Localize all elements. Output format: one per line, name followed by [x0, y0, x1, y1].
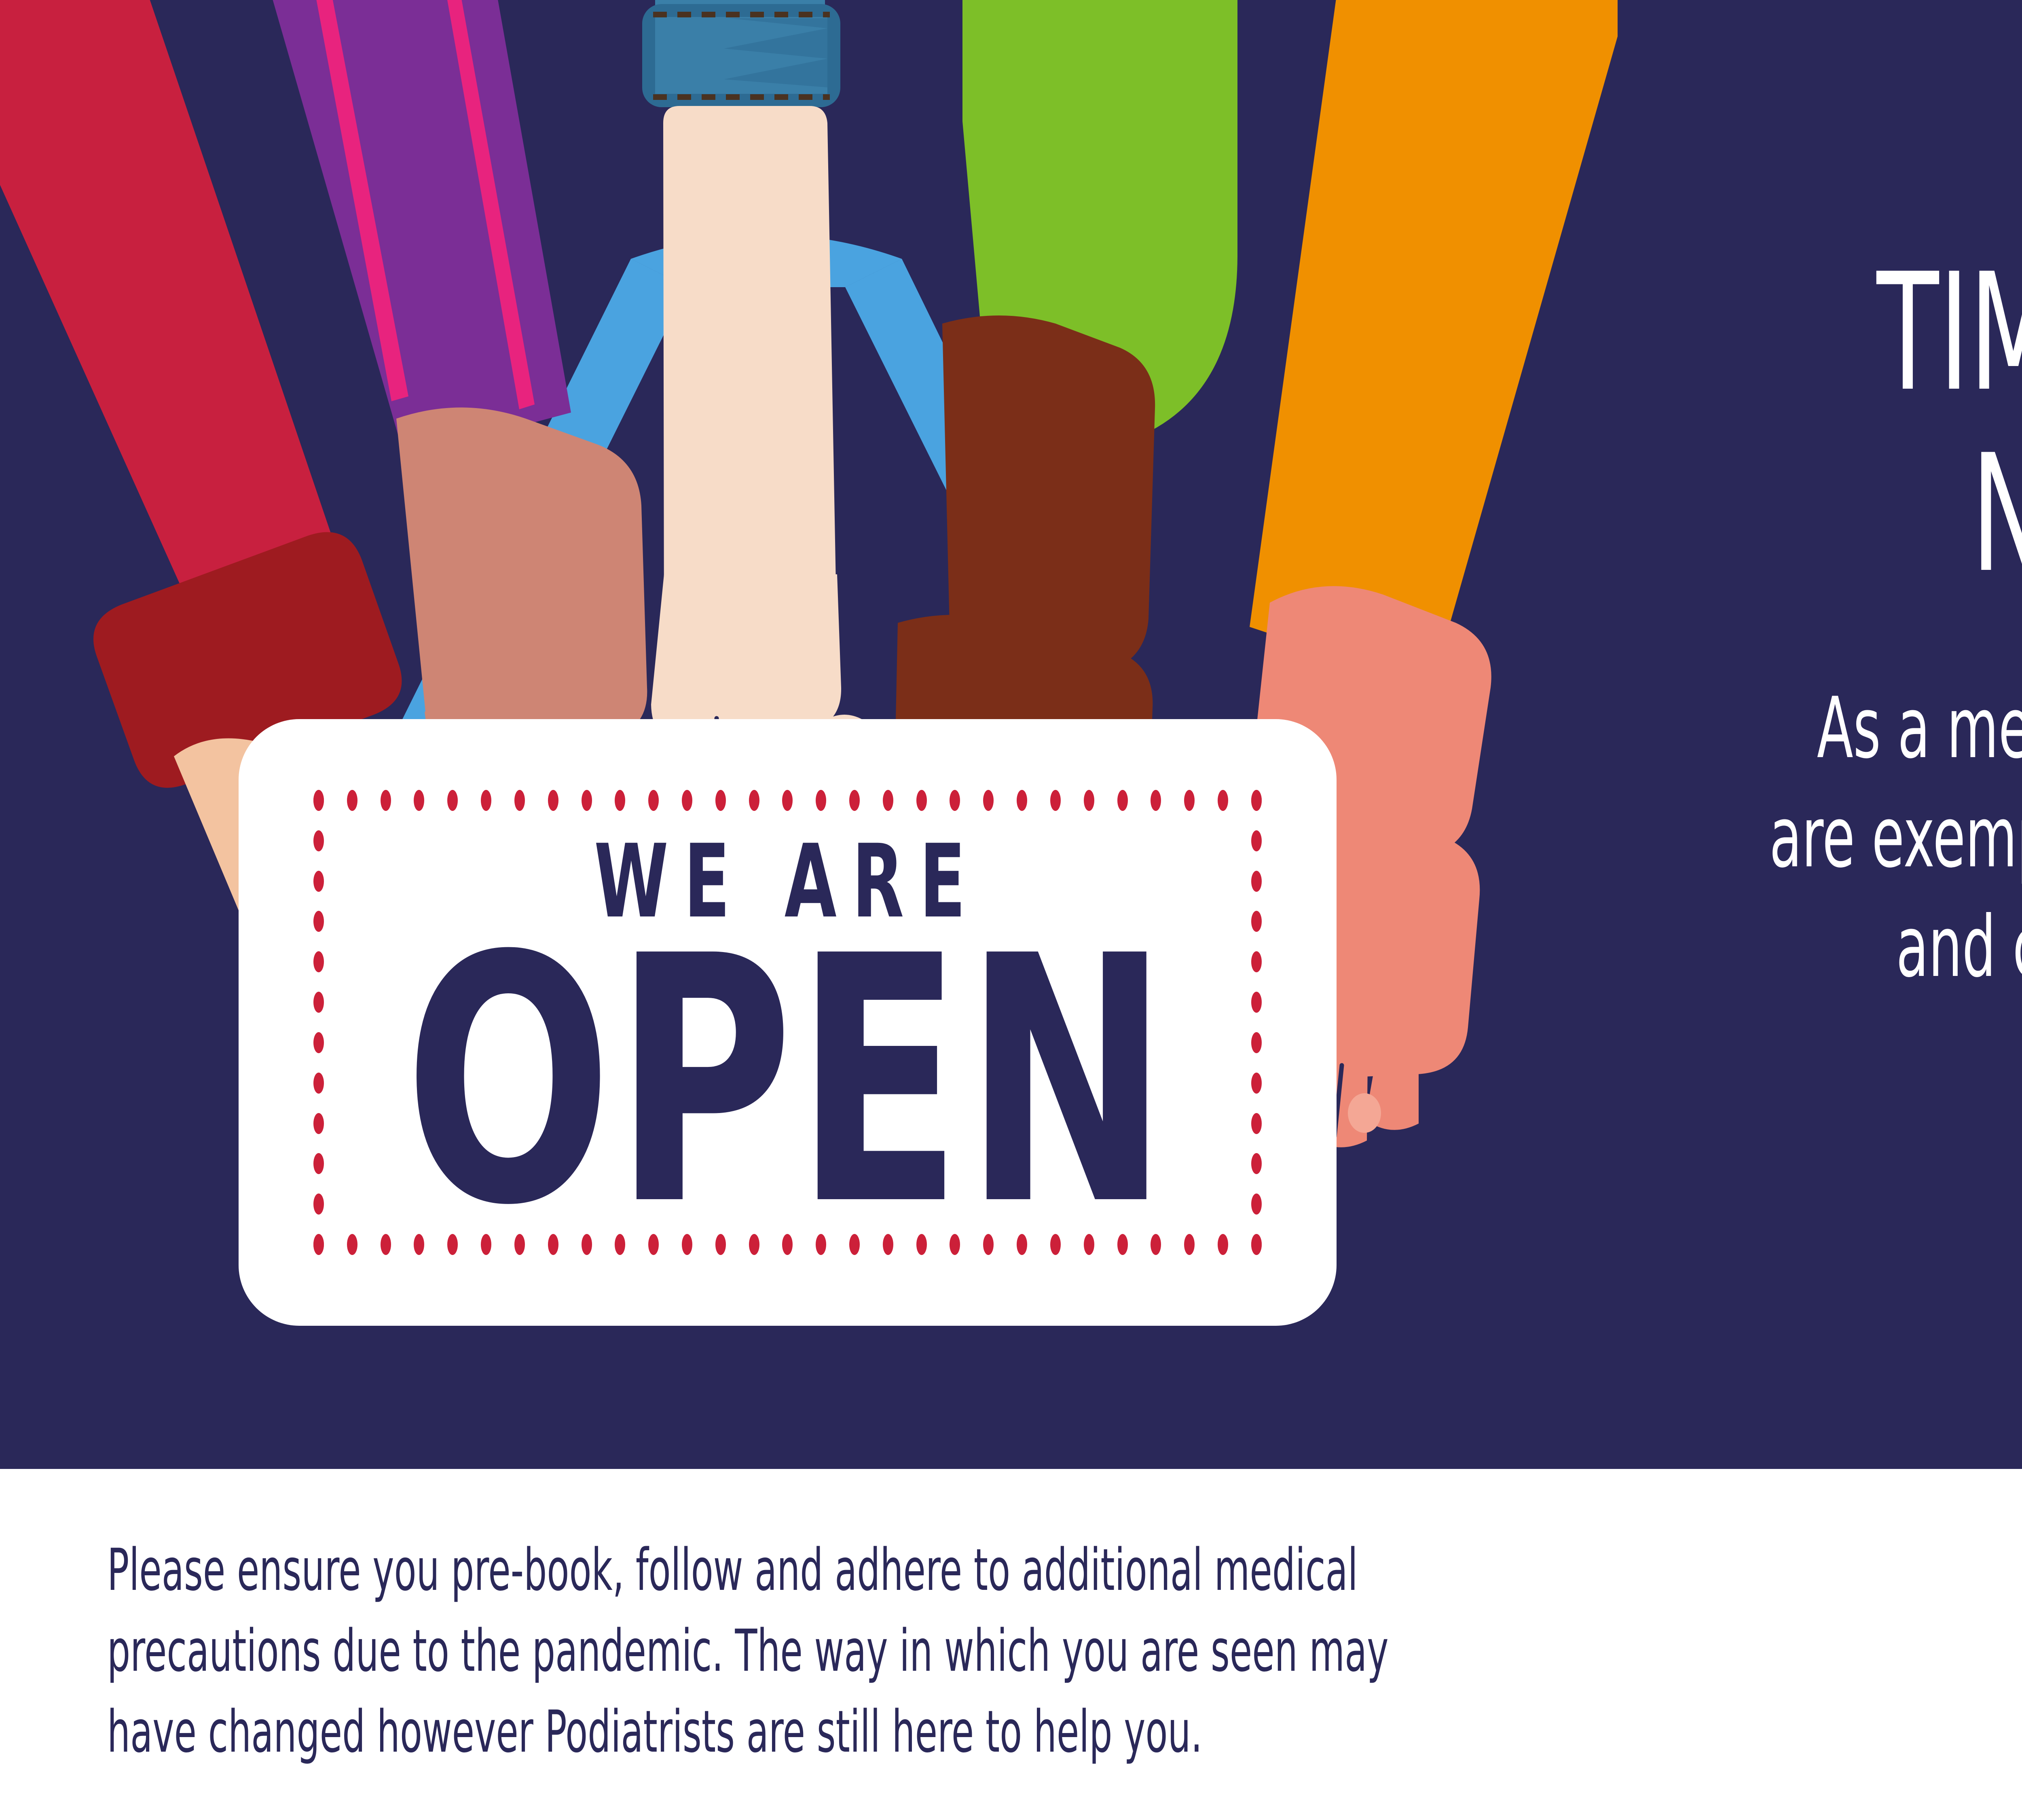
hero-copy-block: TIME TO BOOK IN NOT WALK BY As a medical… — [1472, 243, 2022, 1002]
footer-panel: Please ensure you pre-book, follow and a… — [0, 1469, 2022, 1820]
hero-subcopy: As a medical practice, Podiatry Clinics … — [1727, 674, 2022, 1002]
sign-text-block: WE ARE OPEN — [313, 790, 1262, 1255]
sign-line-open: OPEN — [404, 943, 1171, 1221]
sign-dotted-frame: WE ARE OPEN — [313, 790, 1262, 1255]
footer-disclaimer: Please ensure you pre-book, follow and a… — [107, 1530, 1579, 1773]
we-are-open-sign: WE ARE OPEN — [239, 719, 1337, 1326]
foot-three — [642, 0, 874, 814]
hero-panel: WE ARE OPEN TIME TO BOOK IN NOT WALK BY … — [0, 0, 2022, 1469]
page-title: TIME TO BOOK IN NOT WALK BY — [1727, 243, 2022, 605]
poster-canvas: WE ARE OPEN TIME TO BOOK IN NOT WALK BY … — [0, 0, 2022, 1820]
